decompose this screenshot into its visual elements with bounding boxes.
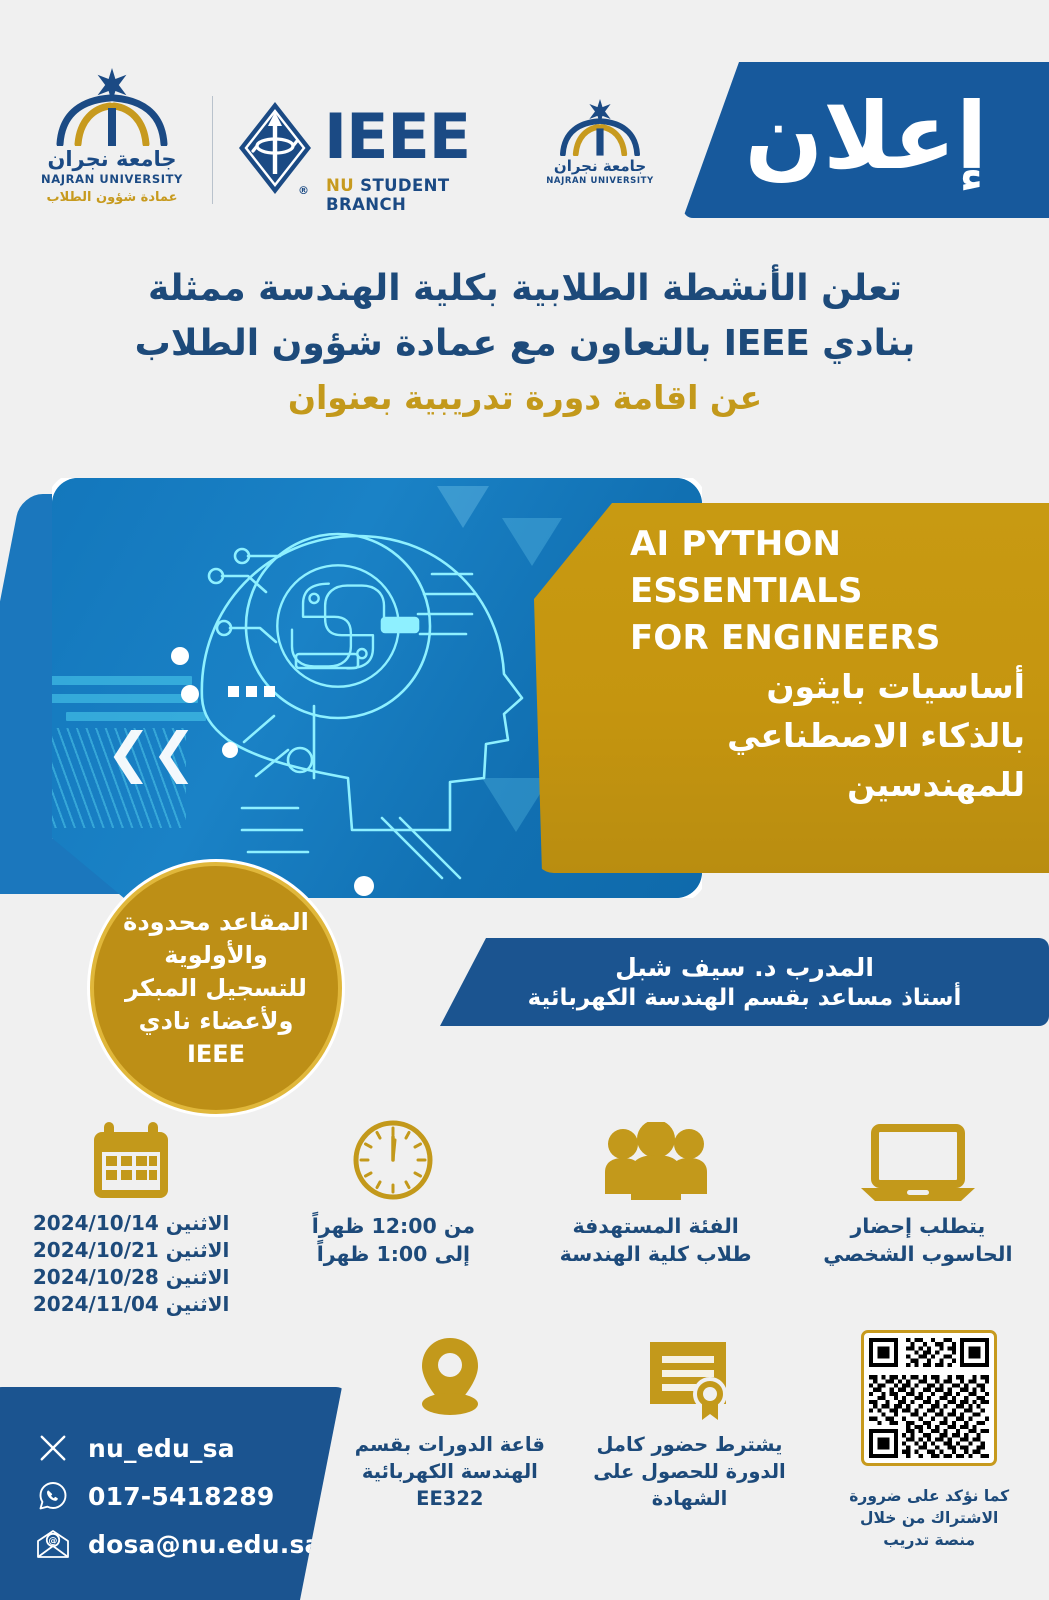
location-line-1: قاعة الدورات بقسم	[355, 1431, 545, 1458]
najran-university-name-ar-small: جامعة نجران	[554, 158, 646, 175]
najran-university-name-ar: جامعة نجران	[47, 148, 176, 171]
course-title-panel: AI PYTHON ESSENTIALS FOR ENGINEERS أساسي…	[534, 503, 1049, 873]
course-title-en-line-2: ESSENTIALS	[630, 568, 1025, 615]
bottom-item-registration: كما نؤكد على ضرورة الاشتراك من خلال منصة…	[809, 1330, 1049, 1560]
location-line-2: الهندسة الكهربائية	[355, 1458, 545, 1485]
ieee-branch-prefix: NU	[326, 176, 354, 195]
contact-item-email[interactable]: @ dosa@nu.edu.sa	[36, 1527, 348, 1561]
header-divider	[212, 96, 213, 204]
time-line-2: إلى 1:00 ظهراً	[312, 1240, 475, 1268]
info-audience-text: الفئة المستهدفة طلاب كلية الهندسة	[560, 1212, 752, 1268]
date-line-2: الاثنين 2024/10/21	[33, 1237, 229, 1264]
x-twitter-icon	[36, 1431, 70, 1465]
laptop-line-2: الحاسوب الشخصي	[823, 1240, 1012, 1268]
poster-root: جامعة نجران NAJRAN UNIVERSITY عمادة شؤون…	[0, 0, 1049, 1600]
bottom-certificate-text: يشترط حضور كامل الدورة للحصول على الشهاد…	[593, 1431, 785, 1512]
clock-icon	[351, 1118, 435, 1202]
ieee-registered-mark: ®	[298, 184, 309, 197]
limited-seats-badge: المقاعد محدودة والأولوية للتسجيل المبكر …	[90, 862, 342, 1114]
intro-heading: تعلن الأنشطة الطلابية بكلية الهندسة ممثل…	[70, 262, 980, 423]
open-book-arcs-icon-small	[560, 118, 640, 156]
registration-line-2: الاشتراك من خلال	[849, 1507, 1009, 1529]
trainer-name: المدرب د. سيف شبل	[615, 952, 874, 983]
time-line-1: من 12:00 ظهراً	[312, 1212, 475, 1240]
najran-university-name-en-small: NAJRAN UNIVERSITY	[546, 176, 654, 186]
date-line-3: الاثنين 2024/10/28	[33, 1264, 229, 1291]
date-line-4: الاثنين 2024/11/04	[33, 1291, 229, 1318]
course-title-ar-line-1: أساسيات بايثون	[630, 662, 1025, 711]
date-line-1: الاثنين 2024/10/14	[33, 1210, 229, 1237]
intro-line-3: عن اقامة دورة تدريبية بعنوان	[70, 373, 980, 423]
limited-seats-text: المقاعد محدودة والأولوية للتسجيل المبكر …	[94, 906, 338, 1071]
trainer-title: أستاذ مساعد بقسم الهندسة الكهربائية	[528, 983, 962, 1013]
email-icon: @	[36, 1527, 70, 1561]
bottom-item-certificate: يشترط حضور كامل الدورة للحصول على الشهاد…	[570, 1330, 810, 1560]
calendar-icon	[92, 1118, 170, 1200]
hero-section: ❮❮	[0, 470, 1049, 940]
laptop-line-1: يتطلب إحضار	[823, 1212, 1012, 1240]
najran-university-emblem-icon-small	[560, 102, 640, 156]
ieee-logo: ® IEEE NU STUDENT BRANCH	[238, 100, 528, 210]
contact-phone-number: 017-5418289	[88, 1482, 275, 1511]
contact-item-whatsapp[interactable]: 017-5418289	[36, 1479, 348, 1513]
ieee-wordmark: IEEE	[324, 106, 470, 168]
course-info-row: الاثنين 2024/10/14 الاثنين 2024/10/21 ال…	[0, 1118, 1049, 1318]
poster-header: جامعة نجران NAJRAN UNIVERSITY عمادة شؤون…	[0, 0, 1049, 240]
intro-line-2: بنادي IEEE بالتعاون مع عمادة شؤون الطلاب	[70, 317, 980, 372]
certificate-line-3: الشهادة	[593, 1485, 785, 1512]
location-room-code: EE322	[355, 1485, 545, 1512]
announcement-calligraphy-text: إعلان	[745, 91, 988, 183]
info-dates-text: الاثنين 2024/10/14 الاثنين 2024/10/21 ال…	[33, 1210, 229, 1318]
contact-twitter-handle: nu_edu_sa	[88, 1434, 235, 1463]
location-pin-icon	[413, 1330, 487, 1422]
bottom-item-location: قاعة الدورات بقسم الهندسة الكهربائية EE3…	[330, 1330, 570, 1560]
bottom-registration-text: كما نؤكد على ضرورة الاشتراك من خلال منصة…	[849, 1485, 1009, 1551]
registration-line-3: منصة تدريب	[849, 1529, 1009, 1551]
najran-university-logo-secondary: جامعة نجران NAJRAN UNIVERSITY	[540, 102, 660, 206]
course-title-en-line-3: FOR ENGINEERS	[630, 615, 1025, 662]
open-book-arcs-icon	[56, 94, 168, 146]
contact-item-twitter[interactable]: nu_edu_sa	[36, 1431, 348, 1465]
certificate-line-1: يشترط حضور كامل	[593, 1431, 785, 1458]
ieee-branch-label: NU STUDENT BRANCH	[326, 176, 528, 214]
deanship-student-affairs-label: عمادة شؤون الطلاب	[47, 190, 178, 205]
audience-line-1: الفئة المستهدفة	[560, 1212, 752, 1240]
certificate-line-2: الدورة للحصول على	[593, 1458, 785, 1485]
people-group-icon	[601, 1118, 711, 1202]
info-item-dates: الاثنين 2024/10/14 الاثنين 2024/10/21 ال…	[0, 1118, 262, 1318]
najran-university-logo: جامعة نجران NAJRAN UNIVERSITY عمادة شؤون…	[24, 72, 200, 212]
qr-code-icon	[861, 1330, 997, 1476]
bottom-location-text: قاعة الدورات بقسم الهندسة الكهربائية EE3…	[355, 1431, 545, 1512]
whatsapp-icon	[36, 1479, 70, 1513]
course-title-ar-line-3: للمهندسين	[630, 760, 1025, 809]
course-title-en-line-1: AI PYTHON	[630, 521, 1025, 568]
audience-line-2: طلاب كلية الهندسة	[560, 1240, 752, 1268]
course-bottom-row: قاعة الدورات بقسم الهندسة الكهربائية EE3…	[330, 1330, 1049, 1560]
intro-line-1: تعلن الأنشطة الطلابية بكلية الهندسة ممثل…	[70, 262, 980, 317]
info-laptop-text: يتطلب إحضار الحاسوب الشخصي	[823, 1212, 1012, 1268]
ieee-diamond-icon	[238, 100, 312, 196]
course-title-ar-line-2: بالذكاء الاصطناعي	[630, 711, 1025, 760]
info-item-audience: الفئة المستهدفة طلاب كلية الهندسة	[525, 1118, 787, 1318]
info-item-time: من 12:00 ظهراً إلى 1:00 ظهراً	[262, 1118, 524, 1318]
certificate-icon	[644, 1330, 736, 1422]
announcement-ribbon: إعلان	[683, 62, 1049, 218]
contact-email-address: dosa@nu.edu.sa	[88, 1530, 322, 1559]
laptop-icon	[857, 1118, 979, 1202]
registration-line-1: كما نؤكد على ضرورة	[849, 1485, 1009, 1507]
najran-university-emblem-icon	[56, 72, 168, 146]
contact-panel: nu_edu_sa 017-5418289 @	[0, 1387, 348, 1600]
trainer-banner: المدرب د. سيف شبل أستاذ مساعد بقسم الهند…	[440, 938, 1049, 1026]
svg-text:@: @	[48, 1537, 57, 1547]
info-item-laptop: يتطلب إحضار الحاسوب الشخصي	[787, 1118, 1049, 1318]
info-time-text: من 12:00 ظهراً إلى 1:00 ظهراً	[312, 1212, 475, 1268]
najran-university-name-en: NAJRAN UNIVERSITY	[41, 172, 183, 186]
